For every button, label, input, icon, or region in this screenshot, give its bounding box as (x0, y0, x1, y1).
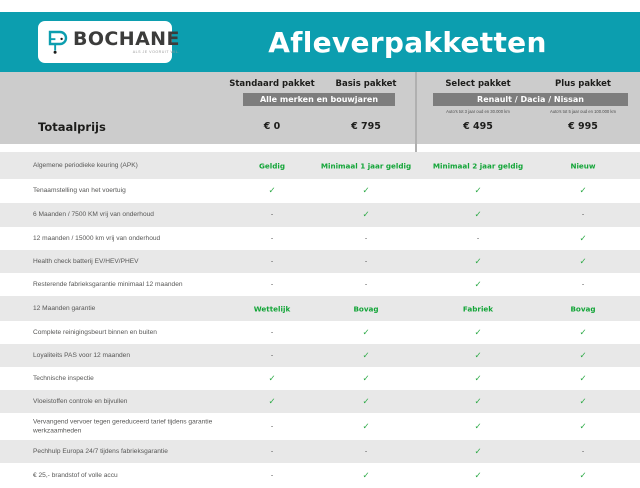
table-row-inner: € 25,- brandstof of volle accu-✓✓✓ (0, 463, 640, 488)
cell-check-icon: ✓ (418, 328, 538, 338)
cell-not-included: - (306, 281, 426, 288)
table-row: Resterende fabrieksgarantie minimaal 12 … (0, 273, 640, 296)
price-plus: € 995 (523, 121, 640, 132)
table-row: Technische inspectie✓✓✓✓ (0, 367, 640, 390)
cell-check-icon: ✓ (418, 351, 538, 361)
cell-check-icon: ✓ (306, 328, 426, 338)
table-row: 6 Maanden / 7500 KM vrij van onderhoud-✓… (0, 203, 640, 227)
group-label-group-alle-merken: Alle merken en bouwjaren (243, 93, 395, 106)
bochane-wordmark: BOCHANE ALS JE VOORUIT WIL. (73, 30, 180, 55)
feature-label: Loyaliteits PAS voor 12 maanden (33, 351, 130, 361)
table-row-inner: Pechhulp Europa 24/7 tijdens fabrieksgar… (0, 440, 640, 463)
cell-check-icon: ✓ (306, 374, 426, 384)
cell-not-included: - (418, 235, 538, 242)
cell-check-icon: ✓ (523, 374, 640, 384)
cell-check-icon: ✓ (306, 397, 426, 407)
cell-not-included: - (306, 448, 426, 455)
column-header-band: Totaalprijs Alle merken en bouwjarenRena… (0, 72, 640, 144)
bochane-tagline: ALS JE VOORUIT WIL. (133, 51, 180, 55)
cell-check-icon: ✓ (523, 422, 640, 432)
table-row: Loyaliteits PAS voor 12 maanden-✓✓✓ (0, 344, 640, 367)
cell-check-icon: ✓ (523, 234, 640, 244)
table-row-inner: Algemene periodieke keuring (APK)GeldigM… (0, 152, 640, 179)
cell-value: Fabriek (418, 304, 538, 313)
table-row: Vervangend vervoer tegen gereduceerd tar… (0, 413, 640, 440)
cell-check-icon: ✓ (523, 351, 640, 361)
cell-value: Bovag (306, 304, 426, 313)
bochane-logo[interactable]: BOCHANE ALS JE VOORUIT WIL. (38, 21, 172, 63)
feature-label: Vervangend vervoer tegen gereduceerd tar… (33, 417, 233, 436)
cell-check-icon: ✓ (523, 397, 640, 407)
cell-check-icon: ✓ (306, 422, 426, 432)
table-row-inner: Vervangend vervoer tegen gereduceerd tar… (0, 413, 640, 440)
cell-value: Bovag (523, 304, 640, 313)
table-row-inner: Loyaliteits PAS voor 12 maanden-✓✓✓ (0, 344, 640, 367)
cell-not-included: - (306, 235, 426, 242)
cell-value: Minimaal 1 jaar geldig (306, 161, 426, 170)
totaalprijs-label: Totaalprijs (38, 120, 106, 134)
table-row: 12 maanden / 15000 km vrij van onderhoud… (0, 227, 640, 250)
cell-check-icon: ✓ (418, 471, 538, 481)
table-row: € 25,- brandstof of volle accu-✓✓✓ (0, 463, 640, 488)
cell-check-icon: ✓ (306, 210, 426, 220)
packages-comparison-table: Algemene periodieke keuring (APK)GeldigM… (0, 152, 640, 488)
cell-not-included: - (523, 212, 640, 219)
table-row: Health check batterij EV/HEV/PHEV--✓✓ (0, 250, 640, 273)
price-select: € 495 (418, 121, 538, 132)
bochane-mark-icon (47, 29, 69, 55)
feature-label: 12 Maanden garantie (33, 304, 95, 314)
cell-value: Minimaal 2 jaar geldig (418, 161, 538, 170)
table-row: 12 Maanden garantieWettelijkBovagFabriek… (0, 296, 640, 321)
afleverpakketten-page: BOCHANE ALS JE VOORUIT WIL. Afleverpakke… (0, 0, 640, 480)
table-row-inner: 12 Maanden garantieWettelijkBovagFabriek… (0, 296, 640, 321)
cell-check-icon: ✓ (418, 186, 538, 196)
feature-label: Tenaamstelling van het voertuig (33, 186, 126, 196)
table-row-inner: Health check batterij EV/HEV/PHEV--✓✓ (0, 250, 640, 273)
cell-check-icon: ✓ (418, 422, 538, 432)
feature-label: 12 maanden / 15000 km vrij van onderhoud (33, 234, 160, 244)
feature-label: Algemene periodieke keuring (APK) (33, 161, 138, 171)
table-row-inner: Technische inspectie✓✓✓✓ (0, 367, 640, 390)
cell-not-included: - (306, 258, 426, 265)
column-header-plus: Plus pakket (513, 79, 640, 89)
table-row: Pechhulp Europa 24/7 tijdens fabrieksgar… (0, 440, 640, 463)
cell-check-icon: ✓ (306, 351, 426, 361)
cell-check-icon: ✓ (418, 374, 538, 384)
feature-label: Complete reinigingsbeurt binnen en buite… (33, 328, 157, 338)
cell-not-included: - (523, 448, 640, 455)
cell-check-icon: ✓ (418, 447, 538, 457)
feature-label: Resterende fabrieksgarantie minimaal 12 … (33, 280, 183, 290)
table-row-inner: 12 maanden / 15000 km vrij van onderhoud… (0, 227, 640, 250)
table-row: Tenaamstelling van het voertuig✓✓✓✓ (0, 179, 640, 203)
group-label-group-renault-dacia-nissan: Renault / Dacia / Nissan (433, 93, 628, 106)
bochane-name: BOCHANE (73, 30, 180, 49)
feature-label: Technische inspectie (33, 374, 94, 384)
feature-label: Health check batterij EV/HEV/PHEV (33, 257, 139, 267)
cell-check-icon: ✓ (418, 257, 538, 267)
column-header-band-inner: Totaalprijs Alle merken en bouwjarenRena… (0, 72, 640, 144)
table-row: Complete reinigingsbeurt binnen en buite… (0, 321, 640, 344)
table-row: Vloeistoffen controle en bijvullen✓✓✓✓ (0, 390, 640, 413)
price-basis: € 795 (306, 121, 426, 132)
feature-label: 6 Maanden / 7500 KM vrij van onderhoud (33, 210, 154, 220)
cell-check-icon: ✓ (523, 471, 640, 481)
cell-check-icon: ✓ (418, 210, 538, 220)
page-title: Afleverpakketten (175, 12, 640, 72)
table-row-inner: Tenaamstelling van het voertuig✓✓✓✓ (0, 179, 640, 203)
cell-check-icon: ✓ (523, 186, 640, 196)
column-note-plus: Auto's tot 5 jaar oud en 100.000 km (513, 109, 640, 114)
table-row: Algemene periodieke keuring (APK)GeldigM… (0, 152, 640, 179)
feature-label: Vloeistoffen controle en bijvullen (33, 397, 127, 407)
cell-check-icon: ✓ (523, 328, 640, 338)
cell-check-icon: ✓ (306, 471, 426, 481)
cell-check-icon: ✓ (306, 186, 426, 196)
cell-not-included: - (523, 281, 640, 288)
cell-check-icon: ✓ (523, 257, 640, 267)
table-row-inner: 6 Maanden / 7500 KM vrij van onderhoud-✓… (0, 203, 640, 227)
table-row-inner: Complete reinigingsbeurt binnen en buite… (0, 321, 640, 344)
cell-check-icon: ✓ (418, 280, 538, 290)
cell-check-icon: ✓ (418, 397, 538, 407)
table-row-inner: Resterende fabrieksgarantie minimaal 12 … (0, 273, 640, 296)
page-header: BOCHANE ALS JE VOORUIT WIL. Afleverpakke… (0, 12, 640, 72)
feature-label: € 25,- brandstof of volle accu (33, 471, 118, 481)
table-row-inner: Vloeistoffen controle en bijvullen✓✓✓✓ (0, 390, 640, 413)
feature-label: Pechhulp Europa 24/7 tijdens fabrieksgar… (33, 447, 168, 457)
cell-value: Nieuw (523, 161, 640, 170)
